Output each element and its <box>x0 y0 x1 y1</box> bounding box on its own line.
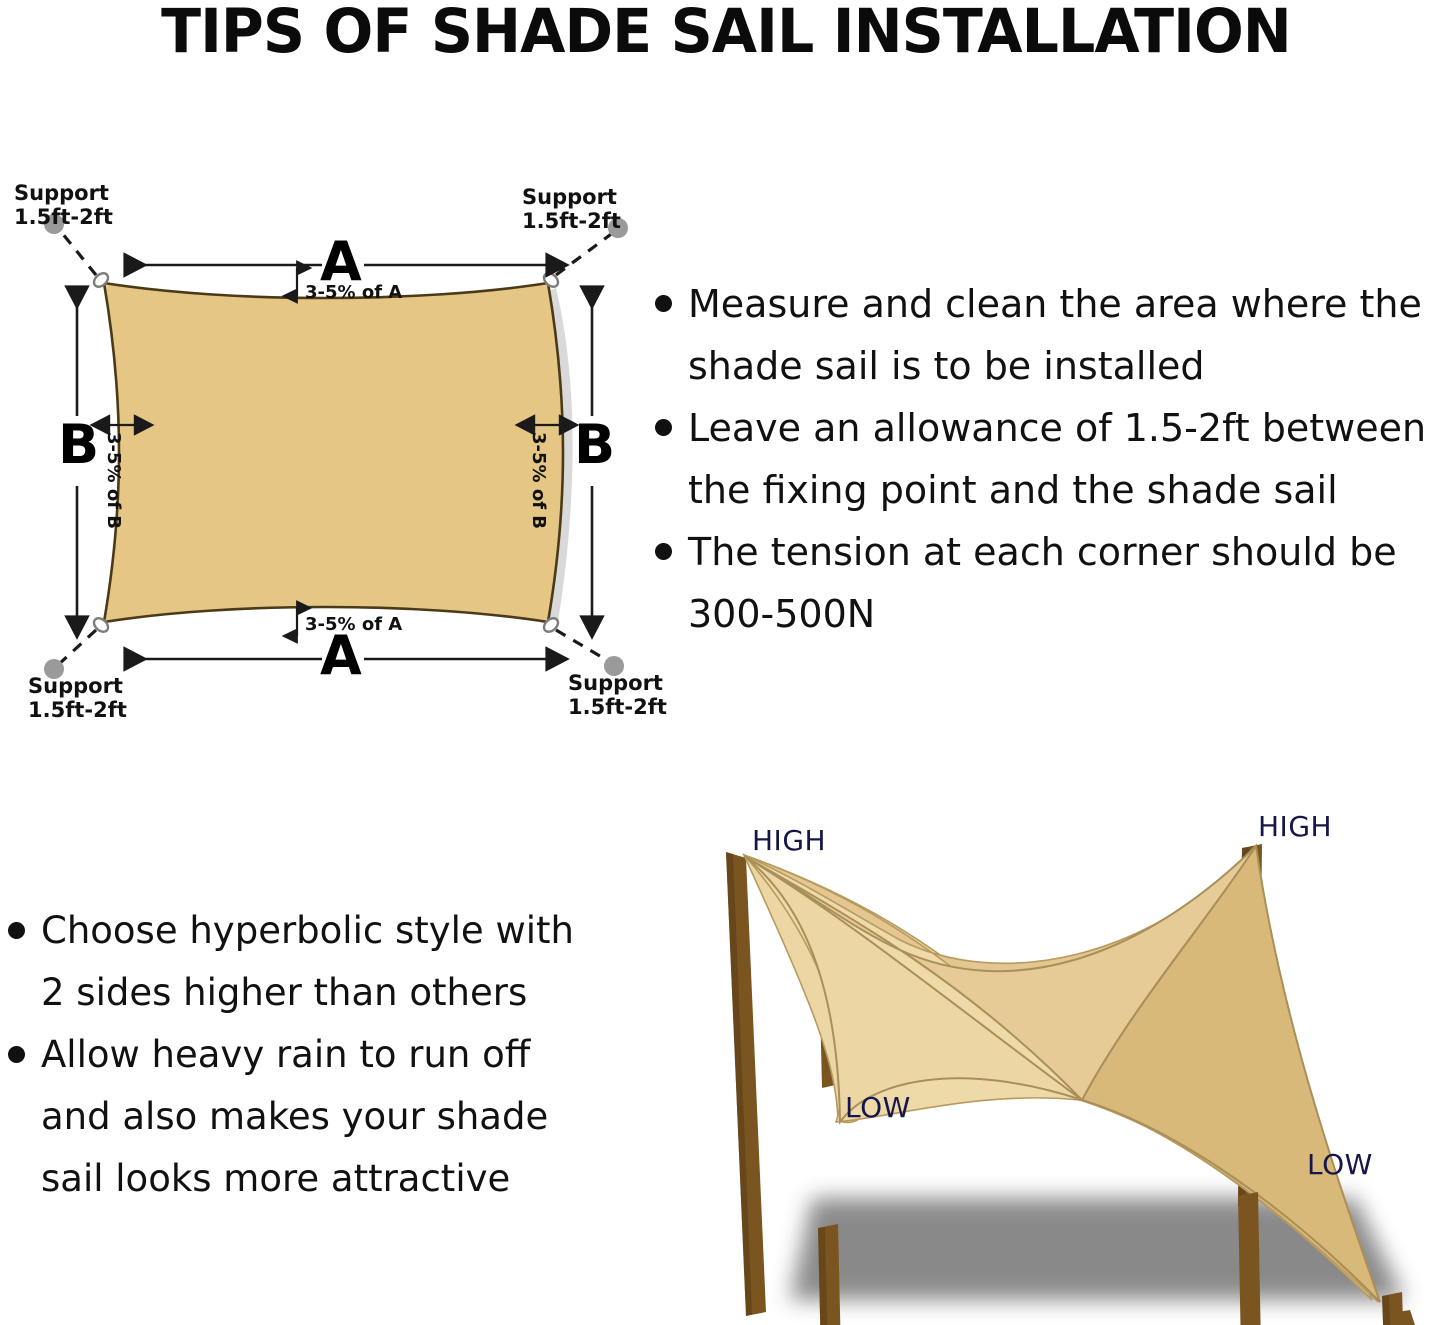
list-item-label: Allow heavy rain to run off <box>41 1024 628 1086</box>
list-item-label: and also makes your shade <box>41 1086 628 1148</box>
label-high-right: HIGH <box>1258 810 1332 843</box>
bullet-spacer-icon <box>655 605 672 622</box>
bullet-dot-icon <box>655 295 672 312</box>
curvature-label-right: 3-5% of B <box>528 432 548 529</box>
pole-high-left <box>726 852 766 1316</box>
curvature-label-top: 3-5% of A <box>305 283 402 303</box>
list-item-label: shade sail is to be installed <box>688 335 1452 397</box>
list-item: Choose hyperbolic style with <box>8 900 628 962</box>
list-item-label: 2 sides higher than others <box>41 962 628 1024</box>
curvature-label-bottom: 3-5% of A <box>305 615 402 635</box>
support-label-bottom-left: Support1.5ft-2ft <box>28 675 127 722</box>
list-item: Measure and clean the area where the <box>655 273 1452 335</box>
pole-low-left-front <box>818 1224 842 1325</box>
list-item-label: sail looks more attractive <box>41 1148 628 1210</box>
label-low-right: LOW <box>1307 1148 1373 1181</box>
support-label-bottom-right: Support1.5ft-2ft <box>568 672 667 719</box>
bullet-dot-icon <box>655 419 672 436</box>
list-item: and also makes your shade <box>8 1086 628 1148</box>
bullet-spacer-icon <box>8 1108 25 1125</box>
installation-tips-list: Measure and clean the area where the sha… <box>655 273 1452 645</box>
label-low-left: LOW <box>845 1091 911 1124</box>
bullet-dot-icon <box>8 922 25 939</box>
list-item-label: Measure and clean the area where the <box>688 273 1452 335</box>
label-high-left: HIGH <box>752 824 826 857</box>
list-item-label: Choose hyperbolic style with <box>41 900 628 962</box>
infographic-page: TIPS OF SHADE SAIL INSTALLATION <box>0 0 1452 1325</box>
bullet-spacer-icon <box>8 984 25 1001</box>
list-item: shade sail is to be installed <box>655 335 1452 397</box>
pole-low-right <box>1392 1310 1415 1325</box>
dimension-label-a-top: A <box>320 235 362 289</box>
list-item-label: The tension at each corner should be <box>688 521 1452 583</box>
bullet-spacer-icon <box>655 357 672 374</box>
bullet-dot-icon <box>8 1046 25 1063</box>
pole-mid-right <box>1238 1192 1262 1325</box>
list-item: sail looks more attractive <box>8 1148 628 1210</box>
pole-low-right-front <box>1382 1292 1406 1325</box>
dimension-label-b-left: B <box>58 418 99 472</box>
list-item: 300-500N <box>655 583 1452 645</box>
curvature-label-left: 3-5% of B <box>103 432 123 529</box>
list-item: Allow heavy rain to run off <box>8 1024 628 1086</box>
list-item: the fixing point and the shade sail <box>655 459 1452 521</box>
list-item-label: Leave an allowance of 1.5-2ft between <box>688 397 1452 459</box>
bullet-spacer-icon <box>655 481 672 498</box>
pole-low-left <box>818 916 840 1088</box>
sail-surface <box>744 846 1380 1302</box>
support-label-top-left: Support1.5ft-2ft <box>14 182 113 229</box>
dimension-label-b-right: B <box>574 418 615 472</box>
bullet-spacer-icon <box>8 1170 25 1187</box>
bullet-dot-icon <box>655 543 672 560</box>
support-label-top-right: Support1.5ft-2ft <box>522 186 621 233</box>
list-item-label: 300-500N <box>688 583 1452 645</box>
list-item-label: the fixing point and the shade sail <box>688 459 1452 521</box>
list-item: 2 sides higher than others <box>8 962 628 1024</box>
list-item: The tension at each corner should be <box>655 521 1452 583</box>
list-item: Leave an allowance of 1.5-2ft between <box>655 397 1452 459</box>
page-title: TIPS OF SHADE SAIL INSTALLATION <box>29 0 1423 67</box>
hyperbolic-style-tips-list: Choose hyperbolic style with 2 sides hig… <box>8 900 628 1210</box>
dimension-label-a-bottom: A <box>320 629 362 683</box>
pole-high-right <box>1238 844 1262 1212</box>
